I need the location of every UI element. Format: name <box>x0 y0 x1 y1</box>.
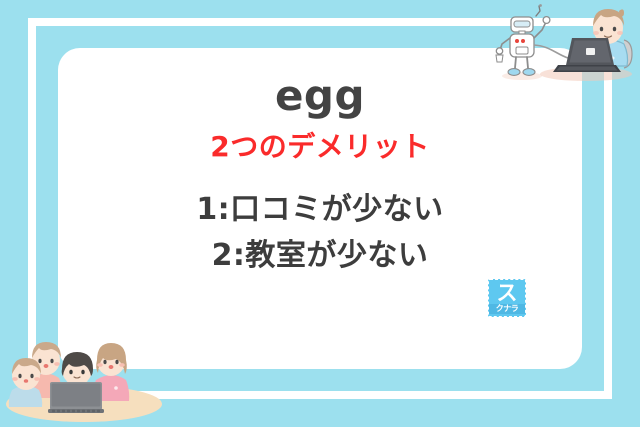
reason-list: 1:口コミが少ない 2:教室が少ない <box>58 187 582 280</box>
text-block: egg 2つのデメリット 1:口コミが少ない 2:教室が少ない <box>58 74 582 280</box>
slide-canvas: egg 2つのデメリット 1:口コミが少ない 2:教室が少ない ス クナラ <box>0 0 640 427</box>
content-card: egg 2つのデメリット 1:口コミが少ない 2:教室が少ない ス クナラ <box>58 48 582 369</box>
page-title: egg <box>58 74 582 118</box>
subtitle: 2つのデメリット <box>58 132 582 163</box>
sukunara-logo: ス クナラ <box>488 279 526 317</box>
logo-sub-text: クナラ <box>489 304 525 314</box>
list-item: 2:教室が少ない <box>58 233 582 280</box>
list-item: 1:口コミが少ない <box>58 187 582 234</box>
logo-main-character: ス <box>497 283 518 304</box>
